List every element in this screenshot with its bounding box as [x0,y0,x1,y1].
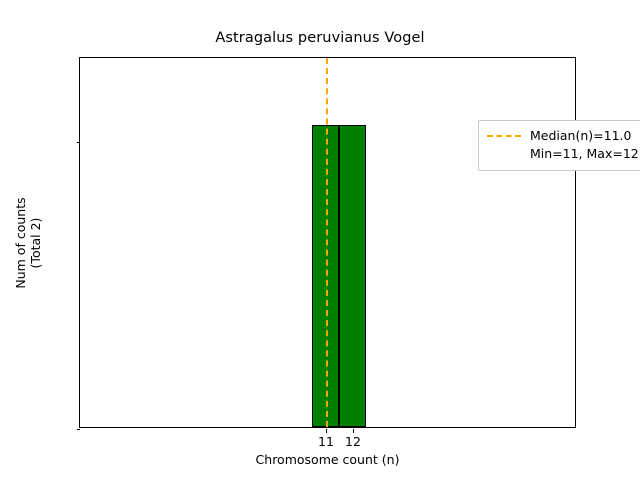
x-tick-mark-11 [326,429,327,433]
legend-minmax-label: Min=11, Max=12 [530,145,640,163]
x-tick-mark-12 [353,429,354,433]
x-axis-label: Chromosome count (n) [79,452,576,467]
legend-dashed-line-icon [487,135,521,137]
legend-entry: Median(n)=11.0 Min=11, Max=12 [487,127,640,163]
chart-title: Astragalus peruvianus Vogel [0,30,640,46]
y-tick-mark-0 [77,429,81,430]
y-tick-mark-1 [77,142,81,143]
y-axis-label-line2: (Total 2) [28,197,43,288]
bar-12 [339,125,366,427]
chart-figure: Astragalus peruvianus Vogel Num of count… [0,0,640,480]
y-axis-label: Num of counts (Total 2) [13,197,44,288]
x-tick-label-12: 12 [345,434,361,449]
plot-area: 0 1 11 12 Median(n)=11.0 Min=11, Max=12 [79,57,576,428]
x-tick-label-11: 11 [318,434,334,449]
legend-entry-text: Median(n)=11.0 Min=11, Max=12 [530,127,640,163]
y-axis-label-line1: Num of counts [13,197,28,288]
chart-legend: Median(n)=11.0 Min=11, Max=12 [478,120,640,171]
plot-inner [80,58,575,427]
legend-median-label: Median(n)=11.0 [530,127,640,145]
median-line [326,58,328,427]
y-axis-label-container: Num of counts (Total 2) [0,57,56,428]
